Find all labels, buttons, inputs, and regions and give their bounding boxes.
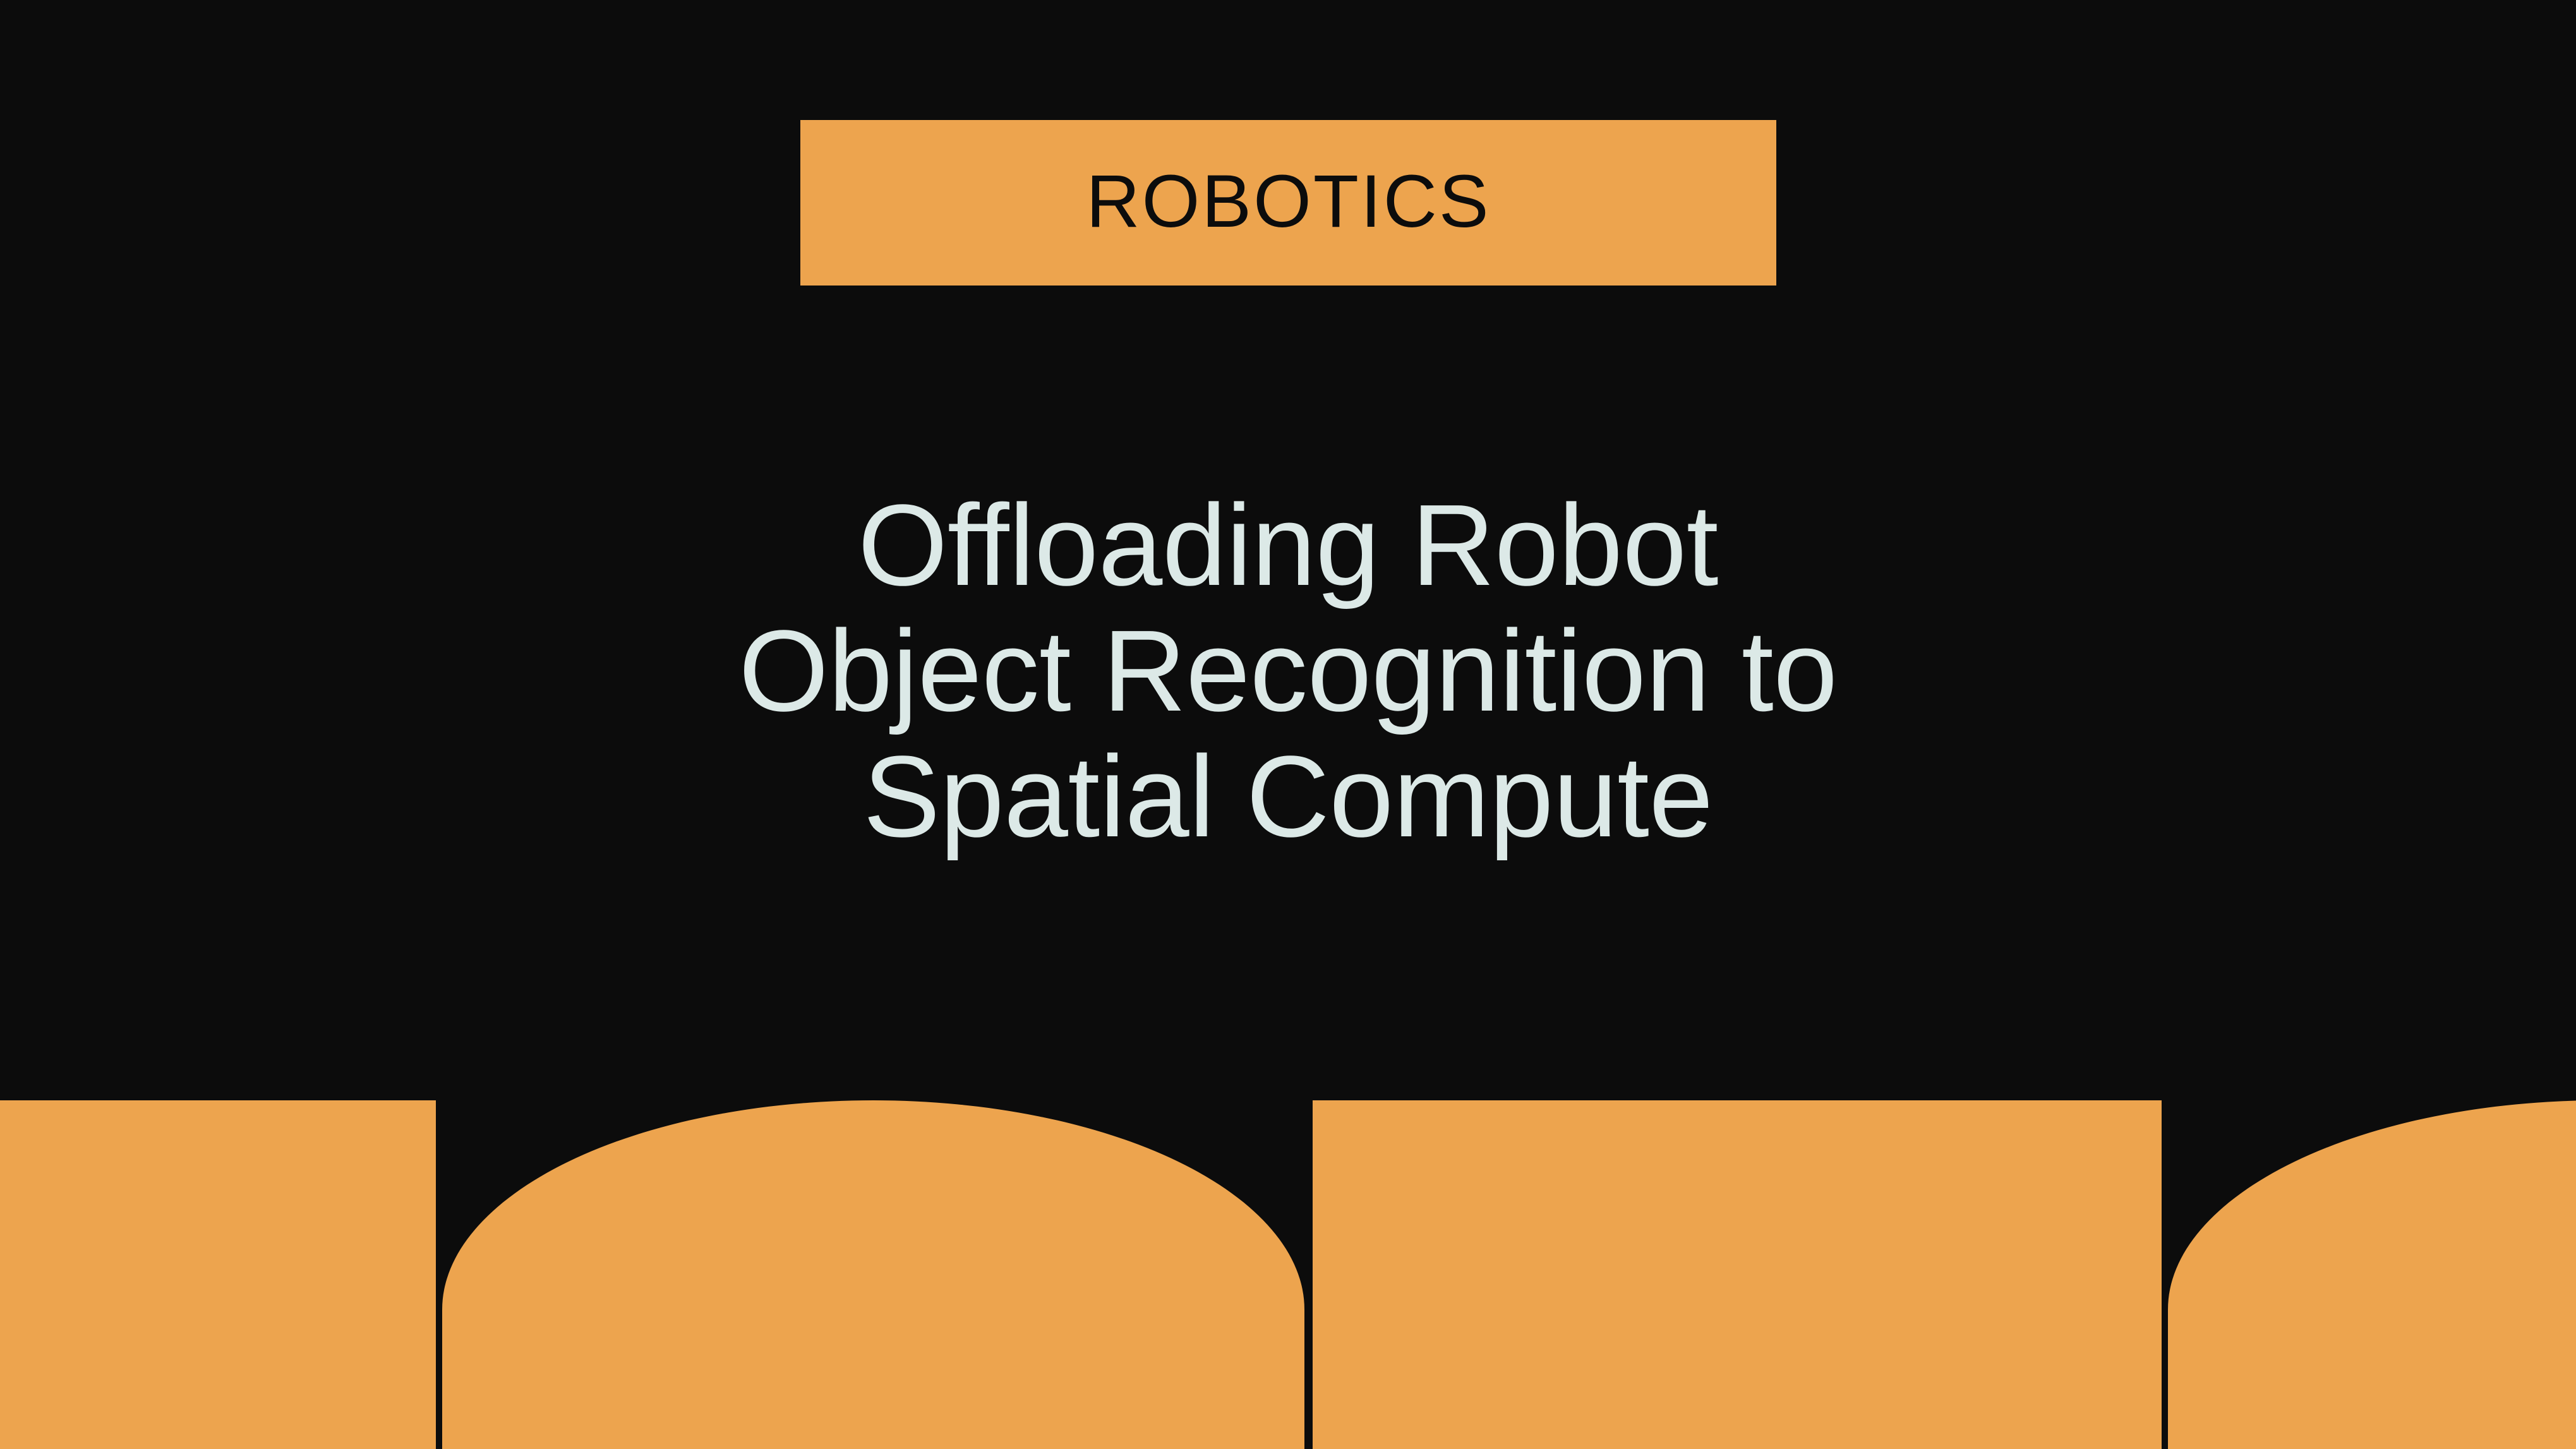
deco-rect-left bbox=[0, 1100, 436, 1449]
deco-rect-center bbox=[1313, 1100, 2162, 1449]
deco-dome-left bbox=[442, 1100, 1304, 1449]
page-title-line-3: Spatial Compute bbox=[0, 733, 2576, 859]
slide-canvas: ROBOTICS Offloading Robot Object Recogni… bbox=[0, 0, 2576, 1449]
category-badge-label: ROBOTICS bbox=[1086, 164, 1490, 239]
page-title-line-1: Offloading Robot bbox=[0, 482, 2576, 608]
deco-dome-right bbox=[2168, 1100, 2576, 1449]
page-title-line-2: Object Recognition to bbox=[0, 608, 2576, 733]
page-title: Offloading Robot Object Recognition to S… bbox=[0, 482, 2576, 859]
bottom-shape-band bbox=[0, 1100, 2576, 1449]
category-badge: ROBOTICS bbox=[800, 120, 1776, 286]
